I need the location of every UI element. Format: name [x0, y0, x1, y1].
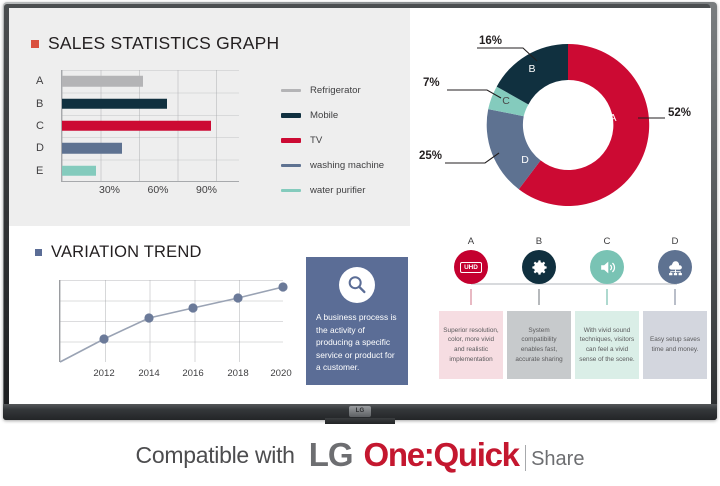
feature-text-a: Superior resolution, color, more vivid a… [442, 326, 500, 364]
magnifier-icon [346, 274, 368, 296]
footer-divider [525, 445, 526, 471]
bar-chart-plot-area: A B C D E [61, 70, 239, 182]
x-tick-90: 90% [196, 184, 217, 196]
variation-trend-line-chart: 2012 2014 2016 2018 2020 [51, 276, 301, 394]
feature-text-c: With vivid sound techniques, visitors ca… [578, 326, 636, 364]
x-tick-60: 60% [147, 184, 168, 196]
bar-value-c [62, 121, 211, 132]
feature-text-d: Easy setup saves time and money. [646, 335, 704, 354]
sales-heading-bullet-icon [31, 40, 39, 48]
trend-point-2018 [233, 293, 242, 302]
x-tick-30: 30% [99, 184, 120, 196]
feature-letter-b: B [507, 236, 571, 247]
donut-label-c: 7% [423, 77, 440, 89]
cloud-network-icon-circle [658, 250, 692, 284]
year-tick-2016: 2016 [182, 368, 203, 379]
donut-chart: A B C D 52% 16% 7% 25% [413, 8, 711, 226]
info-card-text: A business process is the activity of pr… [316, 311, 398, 374]
feature-stem-c [606, 289, 607, 305]
speaker-icon-circle [590, 250, 624, 284]
donut-letter-b: B [528, 63, 535, 75]
bar-row-a: A [62, 70, 239, 92]
bar-row-d: D [62, 137, 239, 159]
trend-point-2016 [188, 303, 197, 312]
feature-box-a: Superior resolution, color, more vivid a… [439, 311, 503, 379]
sales-bar-chart: A B C D E [31, 66, 271, 206]
legend-item-water-purifier: water purifier [281, 178, 406, 203]
feature-letter-d: D [643, 236, 707, 247]
bar-value-e [62, 166, 96, 177]
feature-stem-b [538, 289, 539, 305]
bar-row-c: C [62, 115, 239, 137]
bar-category-label: D [36, 142, 44, 154]
feature-stem-d [674, 289, 675, 305]
footer-onequick-wordmark: One:Quick [364, 436, 519, 474]
year-tick-2020: 2020 [270, 368, 291, 379]
trend-point-2012 [99, 334, 108, 343]
feature-box-d: Easy setup saves time and money. [643, 311, 707, 379]
legend-label: Refrigerator [310, 85, 361, 96]
slide-canvas: SALES STATISTICS GRAPH A B C [9, 8, 711, 404]
feature-text-b: System compatibility enables fast, accur… [510, 326, 568, 364]
sales-heading-title: SALES STATISTICS GRAPH [48, 33, 279, 54]
feature-box-b: System compatibility enables fast, accur… [507, 311, 571, 379]
gear-icon [530, 258, 549, 277]
compatibility-footer: Compatible with LG One:Quick Share [0, 424, 720, 486]
bar-value-a [62, 76, 143, 87]
feature-letter-a: A [439, 236, 503, 247]
trend-point-2020 [278, 282, 287, 291]
feature-column-a: A UHD Superior resolution, color, more v… [439, 236, 503, 305]
line-chart-svg [51, 276, 301, 376]
legend-label: TV [310, 135, 322, 146]
bar-value-b [62, 98, 167, 109]
uhd-badge-icon: UHD [454, 250, 488, 284]
feature-letter-c: C [575, 236, 639, 247]
trend-line [60, 287, 283, 362]
footer-share-label: Share [531, 448, 584, 471]
legend-swatch-icon [281, 189, 301, 192]
uhd-badge-label: UHD [460, 262, 482, 273]
trend-heading-title: VARIATION TREND [51, 243, 202, 262]
feature-box-c: With vivid sound techniques, visitors ca… [575, 311, 639, 379]
bar-row-e: E [62, 160, 239, 182]
year-tick-2018: 2018 [227, 368, 248, 379]
business-process-info-card: A business process is the activity of pr… [306, 257, 408, 385]
donut-label-d: 25% [419, 150, 442, 162]
bar-category-label: C [36, 120, 44, 132]
donut-chart-svg: A B C D 52% 16% 7% 25% [413, 8, 711, 226]
year-tick-2014: 2014 [138, 368, 159, 379]
bar-value-d [62, 143, 122, 154]
cloud-network-icon [665, 257, 686, 278]
bar-category-label: A [36, 75, 43, 87]
monitor-screen: SALES STATISTICS GRAPH A B C [9, 8, 711, 404]
year-tick-2012: 2012 [93, 368, 114, 379]
donut-letter-c: C [502, 95, 510, 107]
sales-section-heading: SALES STATISTICS GRAPH [31, 33, 279, 54]
feature-highlights: A UHD Superior resolution, color, more v… [435, 236, 711, 388]
feature-stem-a [470, 289, 471, 305]
legend-label: Mobile [310, 110, 338, 121]
bar-chart-x-axis: 30% 60% 90% [61, 184, 239, 200]
legend-swatch-icon [281, 89, 301, 92]
donut-label-b: 16% [479, 35, 502, 47]
bar-chart-legend: Refrigerator Mobile TV washing machine w… [281, 78, 406, 203]
legend-item-tv: TV [281, 128, 406, 153]
legend-item-washing-machine: washing machine [281, 153, 406, 178]
monitor-display: SALES STATISTICS GRAPH A B C [0, 0, 720, 424]
legend-swatch-icon [281, 164, 301, 167]
donut-letter-d: D [521, 154, 529, 166]
trend-heading-bullet-icon [35, 249, 42, 256]
footer-compatible-with-text: Compatible with [136, 442, 295, 469]
bar-category-label: B [36, 98, 43, 110]
magnifier-icon-circle [339, 267, 375, 303]
legend-item-mobile: Mobile [281, 103, 406, 128]
donut-leader-d [445, 153, 499, 163]
feature-column-d: D Easy setup saves time and money. [643, 236, 707, 305]
legend-label: water purifier [310, 185, 365, 196]
bar-row-b: B [62, 92, 239, 114]
trend-section-heading: VARIATION TREND [35, 243, 202, 262]
feature-column-b: B System compatibility enables fast, acc… [507, 236, 571, 305]
speaker-icon [598, 258, 617, 277]
donut-label-a: 52% [668, 107, 691, 119]
footer-lg-wordmark: LG [309, 436, 353, 474]
bar-category-label: E [36, 165, 43, 177]
lg-bezel-logo: LG [349, 406, 371, 417]
legend-item-refrigerator: Refrigerator [281, 78, 406, 103]
legend-swatch-icon [281, 113, 301, 117]
trend-point-2014 [144, 313, 153, 322]
feature-column-c: C With vivid sound techniques, visitors … [575, 236, 639, 305]
legend-swatch-icon [281, 138, 301, 142]
donut-letter-a: A [609, 112, 616, 124]
gear-icon-circle [522, 250, 556, 284]
legend-label: washing machine [310, 160, 384, 171]
